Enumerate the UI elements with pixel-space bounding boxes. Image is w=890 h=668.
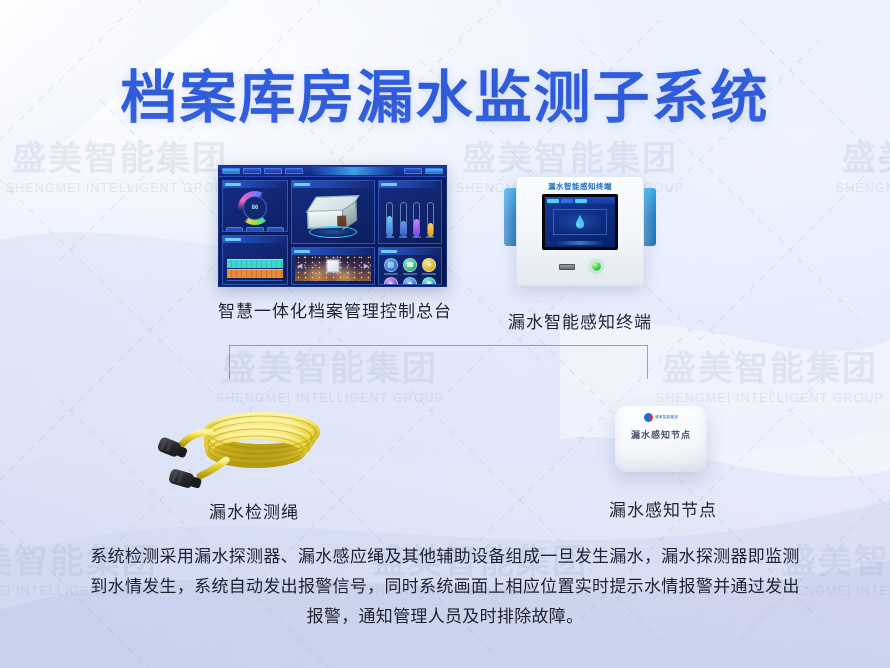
environment-gauge: 86 (238, 191, 272, 225)
leak-detection-rope (154, 398, 354, 498)
product-console: 86 (218, 165, 452, 322)
panel-function-nav: ▤ ☎ ✦ ◈ (378, 247, 442, 285)
nav-item[interactable]: ◈ (382, 277, 399, 285)
dashboard-body: 86 (219, 177, 446, 287)
nav-label (422, 273, 436, 275)
description-paragraph: 系统检测采用漏水探测器、漏水感应绳及其他辅助设备组成一旦发生漏水，漏水探测器即监… (86, 542, 804, 632)
node-device-label: 漏水感知节点 (623, 428, 699, 441)
nav-label (384, 273, 398, 275)
dashboard-user-badge[interactable] (404, 168, 422, 174)
node-caption: 漏水感知节点 (601, 496, 725, 521)
panel-header (223, 181, 287, 188)
console-dashboard-screen[interactable]: 86 (218, 165, 447, 287)
dashboard-right-column: ▤ ☎ ✦ ◈ (378, 180, 442, 285)
model-stage[interactable] (292, 188, 374, 243)
brand-logo-text: 盛美智能集团 (655, 415, 678, 420)
chart-series-orange (227, 269, 283, 278)
terminal-ui-title (561, 199, 573, 203)
bar-labels (379, 236, 441, 238)
gauge-button-temperature[interactable] (226, 227, 243, 232)
bar-label (413, 236, 421, 238)
nav-item[interactable]: ☎ (401, 258, 418, 275)
panel-data-trend (222, 235, 288, 285)
video-prev-arrow-icon[interactable]: ◀ (297, 262, 302, 270)
terminal-device: 漏水智能感知终端 💧 (492, 176, 668, 298)
watermark: 盛美智能集团 SHENGMEI INTELLIGENT GROUP (800, 142, 890, 195)
panel-header (223, 236, 287, 243)
bar-item (400, 202, 407, 236)
chart-x-axis (227, 280, 283, 281)
gauge-button-leak[interactable] (267, 227, 284, 232)
panel-video-monitor: ◀ ▶ (291, 247, 375, 285)
page-title: 档案库房漏水监测子系统 (0, 52, 890, 134)
dashboard-header (219, 166, 446, 177)
dashboard-tab-devices[interactable] (264, 168, 282, 174)
panel-environment-gauge: 86 (222, 180, 288, 232)
panel-3d-model (291, 180, 375, 244)
icon-grid: ▤ ☎ ✦ ◈ (379, 255, 441, 285)
product-terminal: 漏水智能感知终端 💧 (492, 176, 668, 333)
brand-mark-icon (644, 413, 653, 422)
product-rope: 漏水检测绳 (154, 398, 354, 523)
video-feed[interactable] (295, 256, 371, 281)
console-caption: 智慧一体化档案管理控制总台 (218, 297, 452, 322)
area-chart (223, 243, 287, 284)
rope-caption: 漏水检测绳 (154, 498, 354, 523)
poster-page: 盛美智能集团 SHENGMEI INTELLIGENT GROUP 盛美智能集团… (0, 0, 890, 668)
humidity-icon: ◈ (384, 277, 398, 285)
nav-label (403, 273, 417, 275)
video-overlay-marker (327, 259, 340, 272)
panel-header (292, 181, 374, 188)
panel-header (379, 181, 441, 188)
bar-chart (379, 188, 441, 236)
terminal-ui-status (575, 199, 587, 203)
terminal-screen-ui: 💧 (545, 197, 615, 247)
bar-item (413, 202, 420, 236)
panel-header (379, 248, 441, 255)
water-drop-icon: 💧 (573, 216, 588, 228)
terminal-screen[interactable]: 💧 (542, 194, 618, 250)
bar-label (386, 236, 394, 238)
bar-item (427, 202, 434, 236)
model-base-disc (309, 226, 357, 238)
terminal-status-led (591, 261, 602, 272)
terminal-device-label: 漏水智能感知终端 (516, 181, 644, 192)
gauge-button-humidity[interactable] (246, 227, 263, 232)
dashboard-clock (425, 168, 443, 174)
dashboard-header-title (310, 167, 397, 175)
warning-icon: ✦ (422, 258, 436, 272)
bar-item (386, 202, 393, 236)
bar-label (426, 236, 434, 238)
gauge-buttons (223, 225, 287, 232)
archive-icon: ▤ (384, 258, 398, 272)
terminal-controls (516, 261, 644, 272)
terminal-ui-footer (555, 241, 605, 245)
dashboard-middle-column: ◀ ▶ (291, 180, 375, 285)
alarm-bell-icon: ☎ (403, 258, 417, 272)
node-brand-logo: 盛美智能集团 (623, 413, 699, 422)
speaker-icon: ◆ (403, 277, 417, 285)
terminal-caption: 漏水智能感知终端 (492, 308, 668, 333)
panel-device-status-bars (378, 180, 442, 244)
product-node: 盛美智能集团 漏水感知节点 漏水感知节点 (601, 400, 725, 521)
gauge-value: 86 (238, 191, 272, 225)
leak-sensor-node: 盛美智能集团 漏水感知节点 (601, 400, 725, 496)
terminal-cabinet: 漏水智能感知终端 💧 (516, 176, 644, 286)
settings-gear-icon: ✱ (422, 277, 436, 285)
node-top-face: 盛美智能集团 漏水感知节点 (623, 413, 699, 441)
dashboard-tab-overview[interactable] (222, 168, 240, 174)
panel-header (292, 248, 374, 255)
video-next-arrow-icon[interactable]: ▶ (364, 262, 369, 270)
node-housing: 盛美智能集团 漏水感知节点 (615, 406, 707, 472)
terminal-ui-header (545, 197, 615, 204)
chart-series-cyan (227, 259, 283, 268)
watermark: 盛美智能集团 SHENGMEI INTELLIGENT GROUP (620, 352, 890, 405)
bar-label (399, 236, 407, 238)
nav-item[interactable]: ✱ (421, 277, 438, 285)
dashboard-left-column: 86 (222, 180, 288, 285)
terminal-ui-logo (547, 199, 559, 203)
nav-item[interactable]: ✦ (421, 258, 438, 275)
dashboard-tab-monitor[interactable] (243, 168, 261, 174)
terminal-ui-main: 💧 (553, 209, 607, 235)
model-equipment-unit (337, 215, 346, 226)
dashboard-tab-stats[interactable] (285, 168, 303, 174)
decorative-bracket (229, 345, 648, 379)
nav-item[interactable]: ◆ (401, 277, 418, 285)
nav-item[interactable]: ▤ (382, 258, 399, 275)
terminal-port (559, 264, 575, 270)
